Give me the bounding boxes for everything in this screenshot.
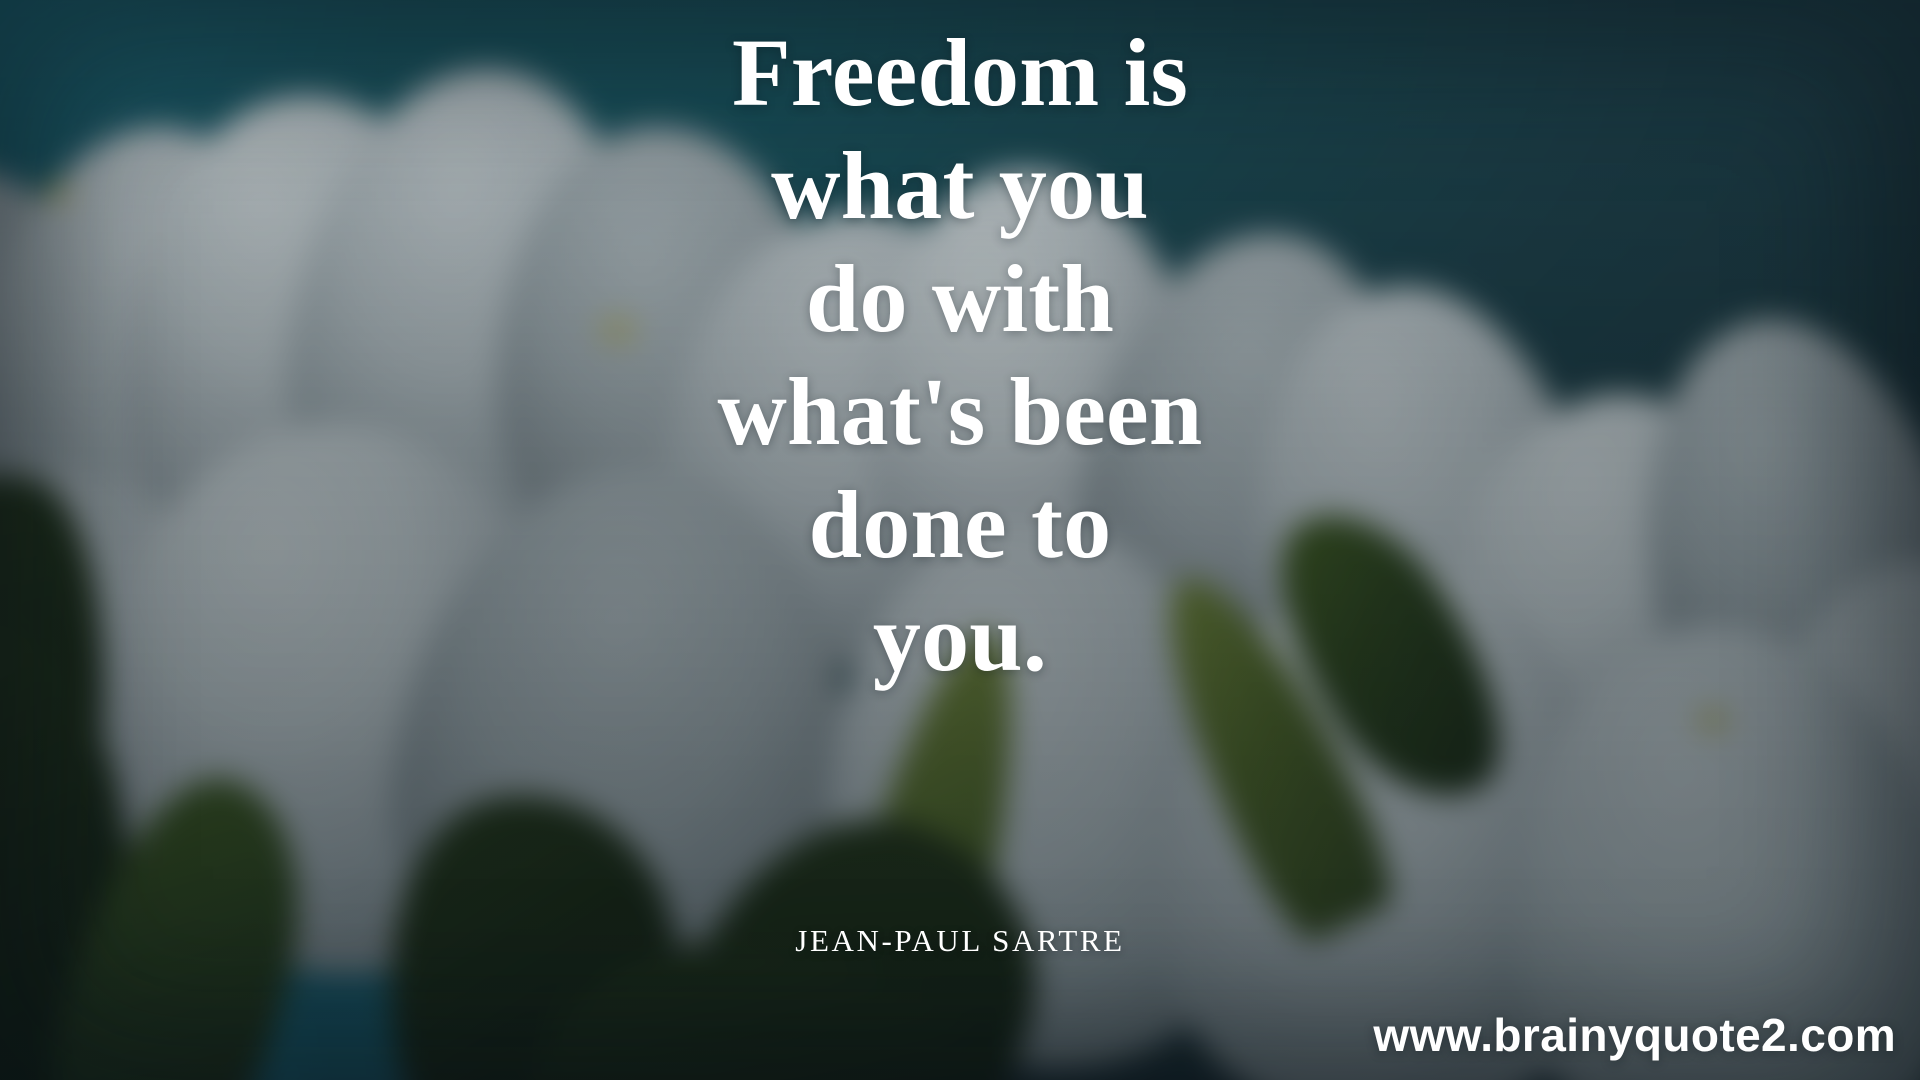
watermark-url: www.brainyquote2.com xyxy=(1373,1008,1896,1062)
quote-card: Freedom is what you do with what's been … xyxy=(0,0,1920,1080)
author-attribution: JEAN-PAUL SARTRE xyxy=(0,923,1920,959)
quote-line-3: do with xyxy=(0,242,1920,355)
quote-line-5: done to xyxy=(0,468,1920,581)
quote-line-1: Freedom is xyxy=(0,16,1920,129)
quote-line-2: what you xyxy=(0,129,1920,242)
quote-line-6: you. xyxy=(0,581,1920,694)
quote-text: Freedom is what you do with what's been … xyxy=(0,16,1920,694)
quote-line-4: what's been xyxy=(0,355,1920,468)
